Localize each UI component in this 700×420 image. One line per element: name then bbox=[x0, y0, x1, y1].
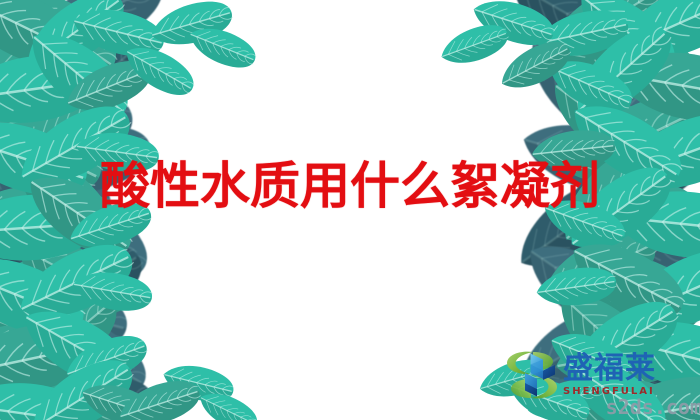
leaf-shape bbox=[0, 372, 102, 420]
site-watermark: s2ds.com bbox=[606, 395, 700, 419]
leaf-shape bbox=[557, 10, 687, 135]
leaf-shape bbox=[10, 230, 157, 357]
leaf-shape bbox=[116, 35, 202, 105]
leaf-shape bbox=[58, 326, 154, 394]
leaf-shape bbox=[509, 20, 649, 158]
leaf-shape bbox=[494, 0, 645, 76]
leaf-shape bbox=[605, 39, 700, 132]
leaf-shape bbox=[551, 230, 700, 347]
leaf-shape bbox=[530, 0, 672, 86]
leaf-shape bbox=[0, 22, 113, 115]
leaf-shape bbox=[0, 0, 131, 92]
leaf-shape bbox=[0, 237, 97, 353]
leaf-shape bbox=[530, 3, 633, 66]
leaf-shape bbox=[0, 46, 106, 134]
leaf-shape bbox=[17, 23, 159, 159]
headline-container: 酸性水质用什么絮凝剂 bbox=[0, 150, 700, 222]
shengfulai-logo-mark-icon bbox=[503, 346, 561, 404]
leaf-shape bbox=[0, 375, 136, 420]
leaf-shape bbox=[0, 278, 132, 403]
leaf-shape bbox=[23, 0, 177, 75]
leaf-shape bbox=[17, 345, 146, 420]
leaf-shape bbox=[553, 0, 700, 98]
leaf-shape bbox=[11, 364, 164, 420]
leaf-shape bbox=[0, 309, 117, 406]
leaf-shape bbox=[562, 0, 690, 89]
leaf-shape bbox=[0, 328, 123, 413]
banner-canvas: 酸性水质用什么絮凝剂 bbox=[0, 0, 700, 420]
leaf-shape bbox=[0, 374, 118, 420]
leaf-shape bbox=[0, 70, 139, 158]
leaf-shape bbox=[112, 372, 206, 420]
leaf-shape bbox=[492, 32, 578, 100]
leaf-shape bbox=[157, 357, 239, 408]
brand-text-block: 盛福莱 SHENGFULAI bbox=[563, 354, 656, 397]
leaf-shape bbox=[13, 13, 144, 136]
leaf-shape bbox=[16, 293, 160, 411]
leaf-shape bbox=[67, 265, 156, 317]
leaf-shape bbox=[558, 224, 696, 334]
leaf-shape bbox=[510, 223, 657, 350]
leaf-shape bbox=[182, 18, 261, 76]
leaf-shape bbox=[0, 0, 127, 101]
page-title: 酸性水质用什么絮凝剂 bbox=[100, 161, 600, 211]
leaf-shape bbox=[6, 229, 145, 336]
leaf-shape bbox=[0, 311, 105, 409]
leaf-shape bbox=[609, 231, 700, 351]
leaf-shape bbox=[605, 0, 700, 80]
leaf-shape bbox=[0, 259, 136, 363]
leaf-shape bbox=[2, 219, 142, 330]
leaf-shape bbox=[144, 0, 238, 55]
leaf-shape bbox=[532, 262, 620, 311]
leaf-shape bbox=[193, 383, 264, 420]
leaf-shape bbox=[0, 232, 116, 353]
leaf-shape bbox=[10, 0, 139, 90]
leaf-shape bbox=[74, 375, 161, 420]
leaf-shape bbox=[57, 50, 158, 123]
leaf-shape bbox=[466, 0, 560, 54]
brand-name-cn: 盛福莱 bbox=[563, 354, 656, 384]
leaf-shape bbox=[528, 217, 668, 325]
leaf-shape bbox=[8, 291, 143, 401]
leaf-shape bbox=[551, 15, 700, 112]
leaf-shape bbox=[564, 61, 700, 154]
leaf-shape bbox=[0, 0, 95, 83]
leaf-shape bbox=[66, 0, 170, 65]
leaf-shape bbox=[539, 47, 640, 123]
leaf-shape bbox=[434, 17, 513, 74]
